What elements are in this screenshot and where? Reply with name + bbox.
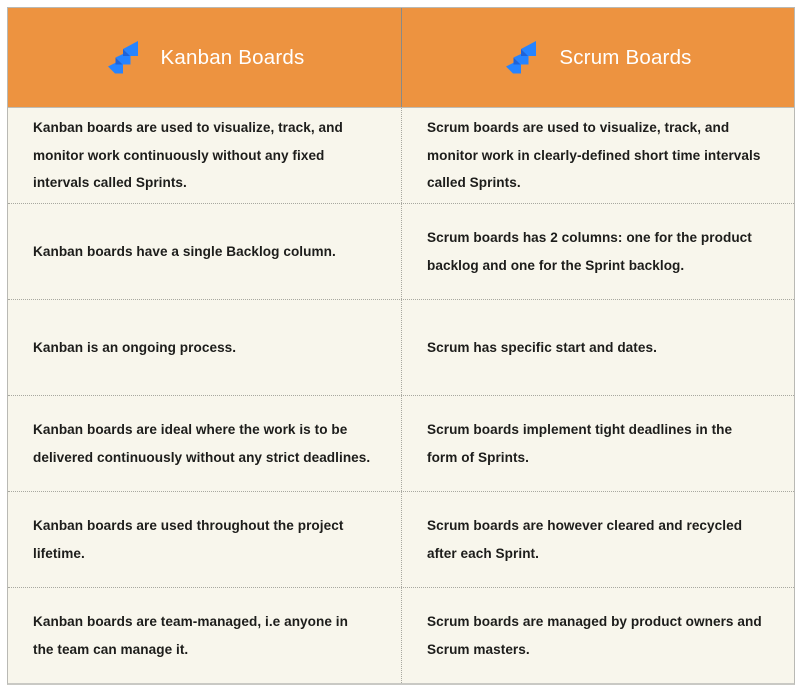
table-header-cell-kanban: Kanban Boards	[8, 8, 401, 107]
table-cell-kanban: Kanban boards are ideal where the work i…	[8, 396, 401, 491]
table-cell-scrum: Scrum has specific start and dates.	[401, 300, 794, 395]
jira-icon	[105, 40, 139, 76]
cell-text: Scrum boards are managed by product owne…	[427, 608, 764, 664]
cell-text: Scrum boards has 2 columns: one for the …	[427, 224, 764, 280]
cell-text: Kanban boards are used to visualize, tra…	[33, 114, 371, 198]
table-row: Kanban boards are used throughout the pr…	[8, 491, 794, 587]
table-body: Kanban boards are used to visualize, tra…	[8, 108, 794, 683]
cell-text: Kanban is an ongoing process.	[33, 334, 236, 362]
cell-text: Kanban boards are used throughout the pr…	[33, 512, 371, 568]
jira-icon	[503, 40, 537, 76]
table-header-row: Kanban Boards Scrum Boards	[8, 8, 794, 108]
table-cell-scrum: Scrum boards implement tight deadlines i…	[401, 396, 794, 491]
cell-text: Scrum boards are however cleared and rec…	[427, 512, 764, 568]
table-cell-scrum: Scrum boards are managed by product owne…	[401, 588, 794, 683]
table-row: Kanban boards are ideal where the work i…	[8, 395, 794, 491]
table-row: Kanban boards are used to visualize, tra…	[8, 108, 794, 203]
table-cell-scrum: Scrum boards are however cleared and rec…	[401, 492, 794, 587]
column-title-kanban: Kanban Boards	[161, 46, 305, 70]
cell-text: Kanban boards are team-managed, i.e anyo…	[33, 608, 371, 664]
table-row: Kanban is an ongoing process. Scrum has …	[8, 299, 794, 395]
column-title-scrum: Scrum Boards	[559, 46, 691, 70]
comparison-table: Kanban Boards Scrum Boards Kanban boards…	[7, 7, 795, 685]
cell-text: Scrum has specific start and dates.	[427, 334, 657, 362]
table-header-cell-scrum: Scrum Boards	[401, 8, 794, 107]
table-row: Kanban boards have a single Backlog colu…	[8, 203, 794, 299]
table-cell-scrum: Scrum boards has 2 columns: one for the …	[401, 204, 794, 299]
table-cell-scrum: Scrum boards are used to visualize, trac…	[401, 108, 794, 203]
cell-text: Kanban boards have a single Backlog colu…	[33, 238, 336, 266]
cell-text: Scrum boards implement tight deadlines i…	[427, 416, 764, 472]
table-cell-kanban: Kanban boards are team-managed, i.e anyo…	[8, 588, 401, 683]
table-cell-kanban: Kanban is an ongoing process.	[8, 300, 401, 395]
table-cell-kanban: Kanban boards are used throughout the pr…	[8, 492, 401, 587]
table-row: Kanban boards are team-managed, i.e anyo…	[8, 587, 794, 683]
cell-text: Kanban boards are ideal where the work i…	[33, 416, 371, 472]
table-cell-kanban: Kanban boards have a single Backlog colu…	[8, 204, 401, 299]
table-cell-kanban: Kanban boards are used to visualize, tra…	[8, 108, 401, 203]
cell-text: Scrum boards are used to visualize, trac…	[427, 114, 764, 198]
